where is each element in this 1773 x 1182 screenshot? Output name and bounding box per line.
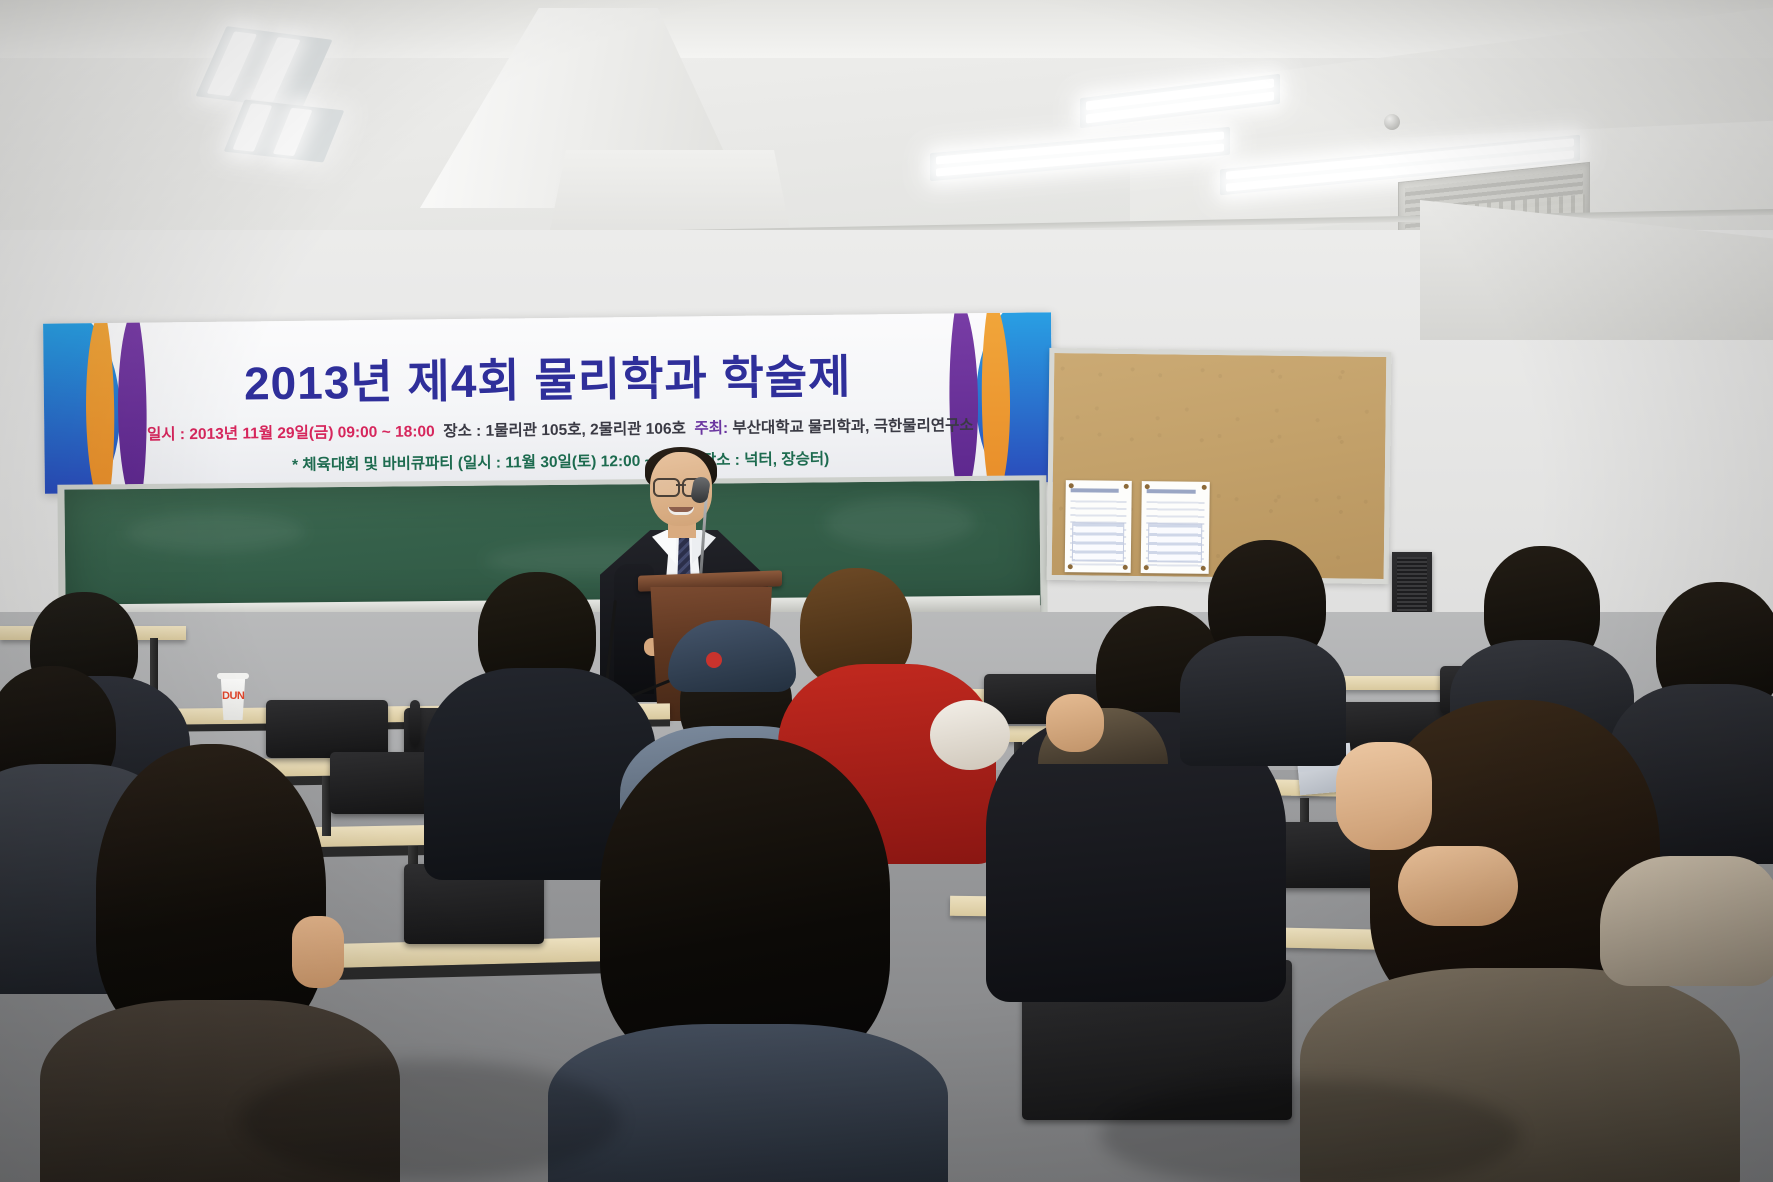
event-banner: 2013년 제4회 물리학과 학술제 일시 : 2013년 11월 29일(금)… [43, 312, 1053, 493]
ceiling-light-2 [224, 100, 345, 163]
coffee-cup-brand-text: DUN [222, 690, 244, 702]
notice-left [1065, 480, 1132, 573]
coffee-cup-lid [217, 673, 249, 679]
banner-detail-line: 일시 : 2013년 11월 29일(금) 09:00 ~ 18:00 장소 :… [128, 413, 992, 445]
banner-sub-event-line: * 체육대회 및 바비큐파티 (일시 : 11월 30일(토) 12:00 ~ … [129, 445, 993, 477]
clapping-hand-2 [1398, 846, 1518, 926]
raised-hand [292, 916, 344, 988]
sprinkler-head-icon [1384, 114, 1400, 130]
chair-back-1 [266, 700, 388, 758]
banner-host-label: 주최: [694, 420, 732, 437]
banner-title: 2013년 제4회 물리학과 학술제 [43, 338, 1052, 415]
fur-hood-trim-right [1600, 856, 1773, 986]
bulletin-board [1047, 348, 1392, 584]
banner-place-label: 장소 : [443, 423, 485, 440]
notice-right [1141, 481, 1210, 574]
banner-datetime-value: 2013년 11월 29일(금) 09:00 ~ 18:00 [189, 423, 435, 443]
banner-datetime-label: 일시 : [147, 426, 189, 443]
raised-hand [1046, 694, 1104, 752]
lecture-hall-photo: 2013년 제4회 물리학과 학술제 일시 : 2013년 11월 29일(금)… [0, 0, 1773, 1182]
clapping-hand [1336, 742, 1432, 850]
fur-hood-trim [930, 700, 1010, 770]
banner-host-value: 부산대학교 물리학과, 극한물리연구소 [732, 417, 973, 437]
banner-place-value: 1물리관 105호, 2물리관 106호 [486, 420, 686, 439]
